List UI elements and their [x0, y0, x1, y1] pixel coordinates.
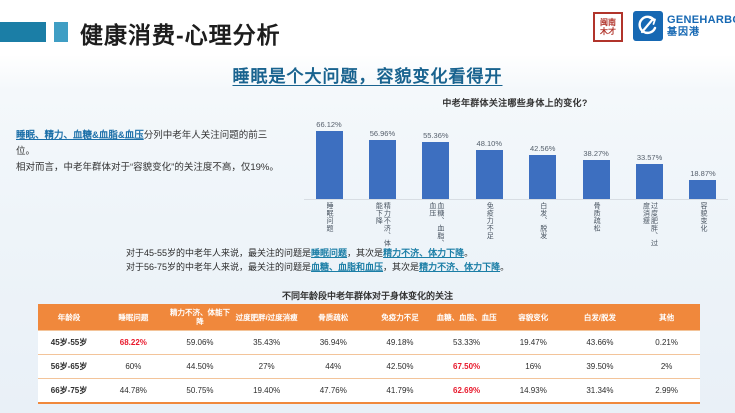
insight-paragraph: 对于45-55岁的中老年人来说，最关注的问题是睡眠问题，其次是精力不济、体力下降… [126, 246, 686, 274]
brand-name-cn: 基因港 [667, 27, 735, 39]
insight-2-hi2: 精力不济、体力下降 [419, 262, 500, 272]
bar-value-label: 33.57% [637, 153, 662, 162]
header-accent-narrow [54, 22, 68, 42]
x-axis-label: 过度肥胖、过度消瘦 [625, 202, 675, 248]
bar-value-label: 18.87% [690, 169, 715, 178]
table-cell: 62.69% [433, 379, 500, 404]
geneharbor-logo: GENEHARBOR 基因港 [633, 11, 735, 41]
bar [636, 164, 663, 199]
table-title: 不同年龄段中老年群体对于身体变化的关注 [0, 289, 735, 302]
bar-value-label: 42.56% [530, 144, 555, 153]
x-axis-label: 容貌变化 [678, 202, 728, 248]
bar-value-label: 48.10% [477, 139, 502, 148]
table-cell: 42.50% [367, 355, 434, 379]
insight-1-hi2: 精力不济、体力下降 [383, 248, 464, 258]
header-accent-wide [0, 22, 46, 42]
table-header-cell: 其他 [633, 304, 700, 331]
age-concern-table: 年龄段睡眠问题精力不济、体能下降过度肥胖/过度消瘦骨质疏松免疫力不足血糖、血脂、… [38, 304, 700, 404]
table-header-cell: 年龄段 [38, 304, 100, 331]
slide-subtitle: 睡眠是个大问题，容貌变化看得开 [0, 62, 735, 87]
table-cell: 19.40% [233, 379, 300, 404]
page-title: 健康消费-心理分析 [80, 16, 281, 50]
table-row: 56岁-65岁60%44.50%27%44%42.50%67.50%16%39.… [38, 355, 700, 379]
insight-2-b: ，其次是 [383, 262, 419, 272]
table-head: 年龄段睡眠问题精力不济、体能下降过度肥胖/过度消瘦骨质疏松免疫力不足血糖、血脂、… [38, 304, 700, 331]
table-cell: 50.75% [167, 379, 234, 404]
insight-2-c: 。 [500, 262, 509, 272]
insight-line-2: 对于56-75岁的中老年人来说，最关注的问题是血糖、血脂和血压，其次是精力不济、… [126, 260, 686, 274]
slide-root: 健康消费-心理分析 闽南 木才 GENEHARBOR 基因港 睡眠是个大问题，容… [0, 0, 735, 413]
table-cell-age: 66岁-75岁 [38, 379, 100, 404]
x-axis-label: 睡眠问题 [304, 202, 354, 248]
lead-highlight-1: 睡眠、精力、血糖&血脂&血压 [16, 130, 144, 141]
bar-value-label: 38.27% [583, 149, 608, 158]
table-cell: 44% [300, 355, 367, 379]
bar-value-label: 55.36% [423, 131, 448, 140]
lead-line2: 相对而言，中老年群体对于“容貌变化”的关注度不高，仅19%。 [16, 160, 286, 176]
table-cell: 35.43% [233, 331, 300, 355]
table-header-row: 年龄段睡眠问题精力不济、体能下降过度肥胖/过度消瘦骨质疏松免疫力不足血糖、血脂、… [38, 304, 700, 331]
bar-column: 48.10% [464, 118, 514, 199]
table-header-cell: 骨质疏松 [300, 304, 367, 331]
insight-2-a: 对于56-75岁的中老年人来说，最关注的问题是 [126, 262, 311, 272]
x-axis-label: 免疫力不足 [464, 202, 514, 248]
table-cell: 39.50% [567, 355, 634, 379]
geneharbor-wordmark: GENEHARBOR 基因港 [667, 14, 735, 39]
bar-column: 18.87% [678, 118, 728, 199]
bar-column: 66.12% [304, 118, 354, 199]
table-cell: 68.22% [100, 331, 167, 355]
table-header-cell: 精力不济、体能下降 [167, 304, 234, 331]
table-cell: 0.21% [633, 331, 700, 355]
insight-1-a: 对于45-55岁的中老年人来说，最关注的问题是 [126, 248, 311, 258]
insight-1-hi1: 睡眠问题 [311, 248, 347, 258]
table-cell: 53.33% [433, 331, 500, 355]
x-axis-label: 骨质疏松 [571, 202, 621, 248]
chart-plot-area: 66.12%56.96%55.36%48.10%42.56%38.27%33.5… [304, 118, 728, 200]
table-cell: 49.18% [367, 331, 434, 355]
table-header-cell: 过度肥胖/过度消瘦 [233, 304, 300, 331]
table-body: 45岁-55岁68.22%59.06%35.43%36.94%49.18%53.… [38, 331, 700, 404]
table-header-cell: 白发/脱发 [567, 304, 634, 331]
insight-2-hi1: 血糖、血脂和血压 [311, 262, 383, 272]
slide-header: 健康消费-心理分析 闽南 木才 GENEHARBOR 基因港 [0, 0, 735, 56]
table-cell: 43.66% [567, 331, 634, 355]
insight-1-c: 。 [464, 248, 473, 258]
table-header-cell: 免疫力不足 [367, 304, 434, 331]
bar-column: 42.56% [518, 118, 568, 199]
table-cell: 67.50% [433, 355, 500, 379]
table-cell: 19.47% [500, 331, 567, 355]
insight-line-1: 对于45-55岁的中老年人来说，最关注的问题是睡眠问题，其次是精力不济、体力下降… [126, 246, 686, 260]
table-cell-age: 45岁-55岁 [38, 331, 100, 355]
insight-1-b: ，其次是 [347, 248, 383, 258]
table-cell: 36.94% [300, 331, 367, 355]
table-cell: 59.06% [167, 331, 234, 355]
x-axis-label: 白发、脱发 [518, 202, 568, 248]
table-row: 66岁-75岁44.78%50.75%19.40%47.76%41.79%62.… [38, 379, 700, 404]
table-row: 45岁-55岁68.22%59.06%35.43%36.94%49.18%53.… [38, 331, 700, 355]
chart-x-axis-labels: 睡眠问题精力不济、体能下降血糖、血脂、血压免疫力不足白发、脱发骨质疏松过度肥胖、… [304, 202, 728, 248]
x-axis-label: 精力不济、体能下降 [357, 202, 407, 248]
table-cell: 2% [633, 355, 700, 379]
bar [476, 150, 503, 199]
table-cell: 14.93% [500, 379, 567, 404]
bar [369, 140, 396, 199]
bar-column: 33.57% [625, 118, 675, 199]
table-cell: 16% [500, 355, 567, 379]
bar [689, 180, 716, 199]
stamp-logo-text: 闽南 木才 [595, 18, 621, 36]
bar-column: 38.27% [571, 118, 621, 199]
table-cell: 27% [233, 355, 300, 379]
bar-value-label: 56.96% [370, 129, 395, 138]
bar [583, 160, 610, 199]
table-header-cell: 睡眠问题 [100, 304, 167, 331]
body-change-bar-chart: 中老年群体关注哪些身体上的变化? 66.12%56.96%55.36%48.10… [296, 96, 734, 231]
brand-name-en: GENEHARBOR [667, 14, 735, 27]
bar-value-label: 66.12% [316, 120, 341, 129]
table-cell: 31.34% [567, 379, 634, 404]
table-cell: 60% [100, 355, 167, 379]
geneharbor-mark-icon [633, 11, 663, 41]
nankai-stamp-logo: 闽南 木才 [593, 12, 623, 42]
bar [529, 155, 556, 199]
table-cell: 44.78% [100, 379, 167, 404]
table-cell-age: 56岁-65岁 [38, 355, 100, 379]
bar [422, 142, 449, 199]
x-axis-label: 血糖、血脂、血压 [411, 202, 461, 248]
bar-column: 56.96% [357, 118, 407, 199]
table-cell: 47.76% [300, 379, 367, 404]
lead-paragraph: 睡眠、精力、血糖&血脂&血压分列中老年人关注问题的前三位。 相对而言，中老年群体… [16, 128, 286, 176]
bar [316, 131, 343, 199]
chart-title: 中老年群体关注哪些身体上的变化? [296, 96, 734, 109]
bar-column: 55.36% [411, 118, 461, 199]
table-cell: 44.50% [167, 355, 234, 379]
table-header-cell: 容貌变化 [500, 304, 567, 331]
table-cell: 41.79% [367, 379, 434, 404]
table-cell: 2.99% [633, 379, 700, 404]
table-header-cell: 血糖、血脂、血压 [433, 304, 500, 331]
